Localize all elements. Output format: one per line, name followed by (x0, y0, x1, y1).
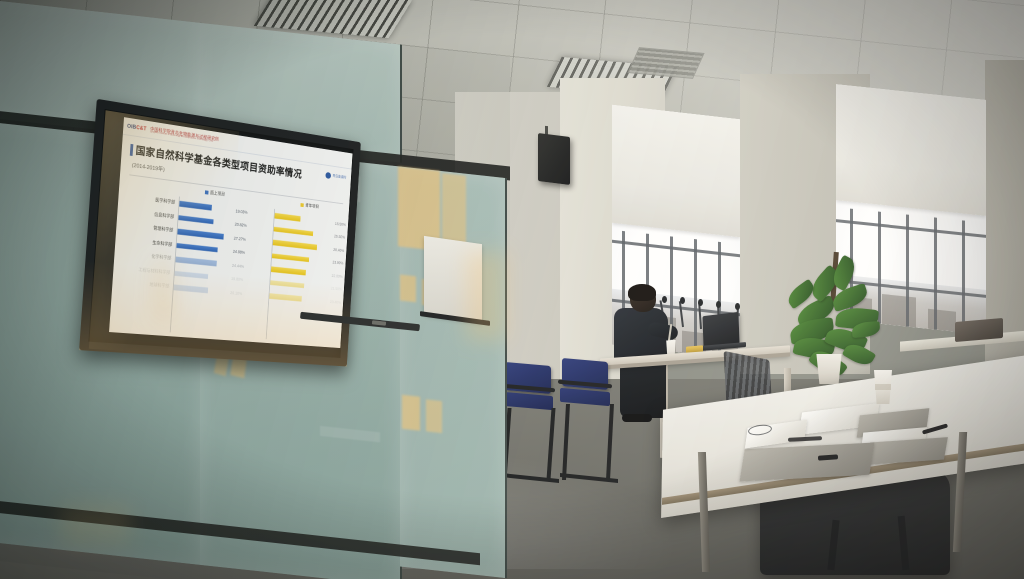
far-equipment (955, 318, 1003, 342)
slide-subtitle: (2014-2019年) (132, 161, 165, 173)
bar-series-1 (175, 257, 217, 266)
legend-item-series-2: 青年项目 (300, 202, 319, 210)
institute-logo: OIBC&T (127, 123, 147, 132)
bar-series-1 (176, 243, 217, 253)
bar-value-label-1: 24.08% (233, 249, 245, 255)
person-shoe (622, 414, 652, 422)
chart-category-label: 信息科学部 (130, 209, 174, 220)
bar-series-2 (272, 253, 310, 262)
bar-value-label-2: 16.50% (335, 221, 346, 227)
bar-value-label-1: 20.10% (230, 290, 242, 296)
bar-series-1 (178, 215, 214, 224)
legend-swatch-blue (205, 190, 209, 194)
person-hair (628, 284, 656, 301)
room-photo: OIBC&T 中国科学院青岛生物能源与过程研究所 Qingdao Institu… (0, 0, 1024, 579)
title-accent-bar (130, 143, 134, 155)
bar-value-label-1: 27.27% (234, 236, 246, 242)
bar-value-label-2: 23.90% (332, 260, 343, 266)
chart-category-label: 管理科学部 (129, 223, 173, 234)
bar-series-2 (274, 226, 314, 236)
bar-series-2 (270, 280, 304, 288)
bar-value-label-1: 20.82% (235, 222, 247, 228)
bar-value-label-2: 20.40% (330, 299, 341, 304)
bar-series-1 (177, 229, 223, 239)
plant-pot (814, 354, 844, 384)
person-legs (620, 360, 666, 418)
bar-series-1 (175, 271, 209, 279)
bar-series-2 (273, 240, 317, 250)
roller-blind-left[interactable] (612, 105, 740, 238)
bar-series-1 (179, 201, 212, 210)
bar-chart: 医学科学部19.03%16.50%信息科学部20.82%25.50%管理科学部2… (109, 189, 348, 345)
bar-value-label-2: 22.00% (332, 273, 343, 279)
chart-category-label: 生命科学部 (128, 237, 172, 248)
university-mark-icon (325, 172, 331, 179)
chart-category-label: 医学科学部 (131, 195, 175, 206)
wall-speaker (538, 133, 570, 185)
bar-value-label-2: 25.50% (334, 234, 345, 240)
bar-series-1 (174, 285, 209, 293)
bar-value-label-1: 24.44% (232, 263, 244, 269)
legend-swatch-yellow (300, 203, 303, 207)
bar-series-2 (274, 213, 300, 221)
cup-band (875, 384, 891, 390)
bar-value-label-2: 28.40% (333, 247, 344, 253)
projection-screen[interactable]: OIBC&T 中国科学院青岛生物能源与过程研究所 Qingdao Institu… (79, 99, 361, 367)
roller-blind-right[interactable] (836, 84, 986, 216)
bar-value-label-2: 21.50% (331, 286, 342, 292)
bar-series-2 (269, 293, 301, 301)
bar-series-2 (271, 267, 306, 275)
bar-value-label-1: 19.80% (231, 276, 243, 282)
bar-value-label-1: 19.03% (235, 208, 247, 214)
legend-item-series-1: 面上项目 (205, 189, 225, 197)
